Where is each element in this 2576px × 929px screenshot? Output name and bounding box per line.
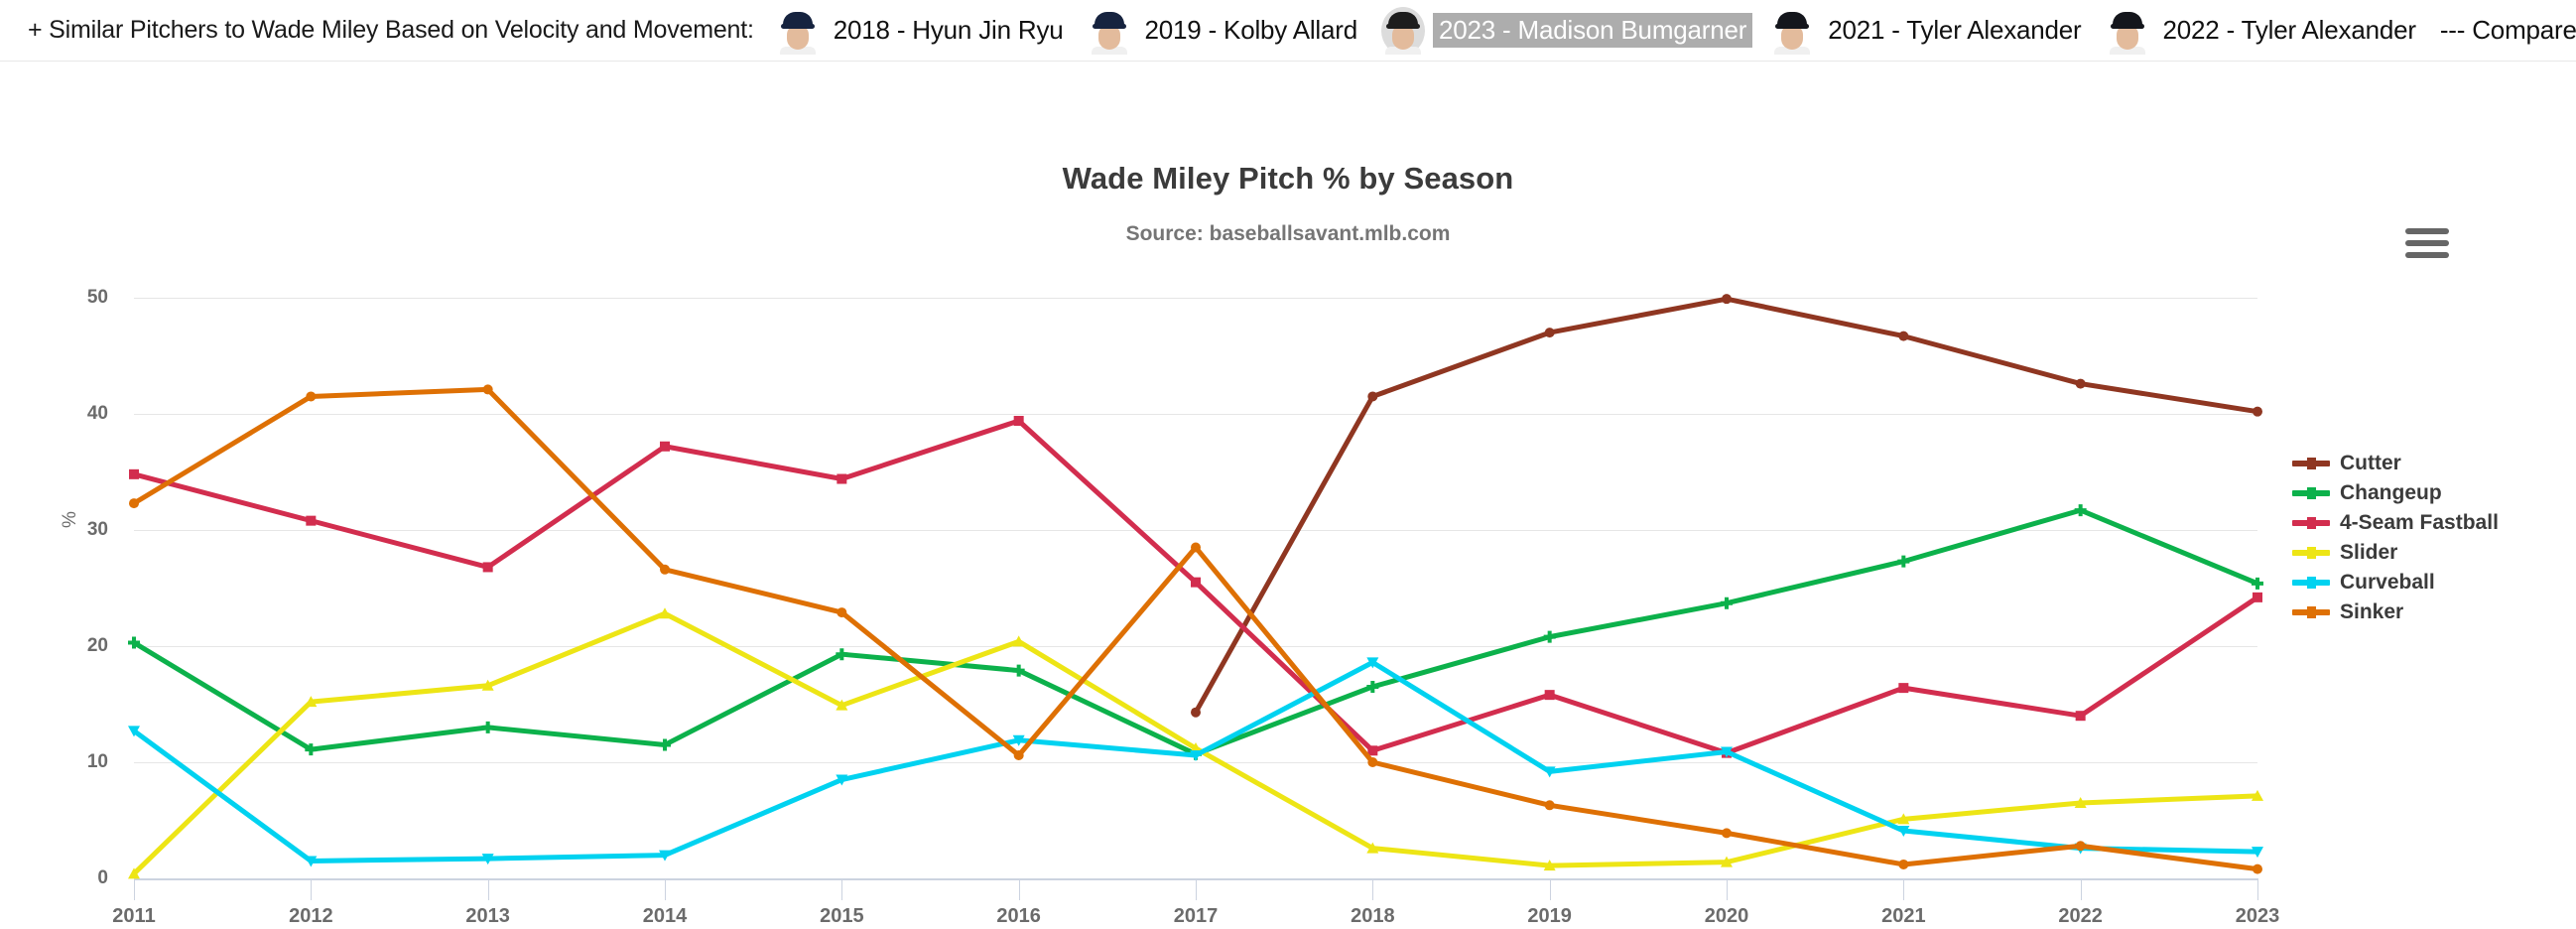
x-axis-tick-label: 2016 <box>960 905 1079 928</box>
pitcher-chip-list: 2018 - Hyun Jin Ryu2019 - Kolby Allard20… <box>776 7 2440 55</box>
menu-bar-2 <box>2405 240 2449 246</box>
data-point[interactable] <box>129 469 139 479</box>
y-axis-tick-label: 10 <box>49 751 108 773</box>
x-axis-tick-mark <box>1727 878 1728 900</box>
legend-color-swatch <box>2292 461 2330 466</box>
pitcher-name: 2021 - Tyler Alexander <box>1822 13 2087 48</box>
pitcher-avatar <box>776 7 820 55</box>
data-point[interactable] <box>482 722 494 733</box>
x-axis-tick-label: 2018 <box>1313 905 1432 928</box>
x-axis-tick-mark <box>1550 878 1551 900</box>
similar-pitchers-label: + Similar Pitchers to Wade Miley Based o… <box>28 16 754 45</box>
series-lines <box>134 298 2257 878</box>
legend-label: Sinker <box>2340 600 2403 624</box>
x-axis-tick-mark <box>2081 878 2082 900</box>
data-point[interactable] <box>2076 711 2086 721</box>
pitcher-chip[interactable]: 2018 - Hyun Jin Ryu <box>776 7 1070 55</box>
x-axis-tick-label: 2015 <box>782 905 901 928</box>
data-point[interactable] <box>1367 391 1377 401</box>
data-point[interactable] <box>1014 416 1024 426</box>
pitcher-chip[interactable]: 2019 - Kolby Allard <box>1088 7 1363 55</box>
x-axis-tick-label: 2013 <box>429 905 548 928</box>
data-point[interactable] <box>1367 745 1377 755</box>
x-axis-tick-label: 2023 <box>2198 905 2317 928</box>
data-point[interactable] <box>1722 828 1732 838</box>
data-point[interactable] <box>837 474 846 484</box>
compare-all-similar-pitchers-link[interactable]: --- Compare All Similar Pitchers <box>2440 15 2576 46</box>
x-axis-tick-mark <box>2257 878 2258 900</box>
chart-legend: CutterChangeup4-Seam FastballSliderCurve… <box>2292 449 2560 627</box>
x-axis-tick-mark <box>134 878 135 900</box>
x-axis-tick-mark <box>488 878 489 900</box>
data-point[interactable] <box>1367 757 1377 767</box>
x-axis-tick-mark <box>841 878 842 900</box>
y-axis-tick-label: 40 <box>49 403 108 425</box>
legend-color-swatch <box>2292 580 2330 586</box>
y-axis-tick-label: 0 <box>49 867 108 889</box>
legend-color-swatch <box>2292 609 2330 615</box>
pitcher-name: 2023 - Madison Bumgarner <box>1433 13 1752 48</box>
menu-bar-3 <box>2405 252 2449 258</box>
hamburger-menu-icon[interactable] <box>2405 228 2449 264</box>
menu-bar-1 <box>2405 228 2449 234</box>
x-axis-tick-label: 2022 <box>2021 905 2140 928</box>
series-4-seam-fastball[interactable] <box>129 416 2262 758</box>
x-axis-tick-label: 2017 <box>1136 905 1255 928</box>
legend-label: Curveball <box>2340 571 2435 595</box>
series-cutter[interactable] <box>1191 294 2262 718</box>
series-sinker[interactable] <box>129 384 2262 873</box>
legend-label: Cutter <box>2340 452 2401 475</box>
data-point[interactable] <box>2253 593 2262 602</box>
x-axis-tick-mark <box>311 878 312 900</box>
data-point[interactable] <box>483 562 493 572</box>
legend-item-cutter[interactable]: Cutter <box>2292 449 2560 478</box>
pitcher-name: 2022 - Tyler Alexander <box>2157 13 2422 48</box>
data-point[interactable] <box>1191 708 1201 718</box>
pitcher-avatar <box>2106 7 2149 55</box>
chart-subtitle: Source: baseballsavant.mlb.com <box>0 222 2576 246</box>
data-point[interactable] <box>1191 543 1201 553</box>
legend-color-swatch <box>2292 490 2330 496</box>
pitcher-avatar <box>1381 7 1425 55</box>
x-axis-tick-label: 2014 <box>605 905 724 928</box>
data-point[interactable] <box>837 607 846 617</box>
pitcher-avatar <box>1088 7 1131 55</box>
data-point[interactable] <box>1898 860 1908 869</box>
legend-item-sinker[interactable]: Sinker <box>2292 597 2560 627</box>
pitcher-chip[interactable]: 2021 - Tyler Alexander <box>1770 7 2087 55</box>
data-point[interactable] <box>306 391 316 401</box>
data-point[interactable] <box>1545 328 1555 337</box>
pitch-percentage-chart: Wade Miley Pitch % by Season Source: bas… <box>0 62 2576 929</box>
data-point[interactable] <box>1898 332 1908 341</box>
x-axis-tick-label: 2021 <box>1844 905 1963 928</box>
x-axis-tick-mark <box>665 878 666 900</box>
y-axis-tick-label: 20 <box>49 635 108 657</box>
data-point[interactable] <box>1014 750 1024 760</box>
data-point[interactable] <box>2253 864 2262 874</box>
data-point[interactable] <box>1898 683 1908 693</box>
data-point[interactable] <box>306 516 316 526</box>
legend-color-swatch <box>2292 520 2330 526</box>
x-axis-tick-label: 2011 <box>74 905 193 928</box>
data-point[interactable] <box>1722 294 1732 304</box>
legend-item-4-seam-fastball[interactable]: 4-Seam Fastball <box>2292 508 2560 538</box>
data-point[interactable] <box>660 442 670 452</box>
legend-color-swatch <box>2292 550 2330 556</box>
data-point[interactable] <box>1545 690 1555 700</box>
data-point[interactable] <box>1897 556 1909 568</box>
data-point[interactable] <box>129 498 139 508</box>
x-axis-tick-mark <box>1196 878 1197 900</box>
pitcher-name: 2019 - Kolby Allard <box>1139 13 1363 48</box>
series-line <box>1196 299 2257 713</box>
pitcher-chip[interactable]: 2022 - Tyler Alexander <box>2106 7 2422 55</box>
legend-item-curveball[interactable]: Curveball <box>2292 568 2560 597</box>
data-point[interactable] <box>1544 631 1556 643</box>
data-point[interactable] <box>1191 578 1201 588</box>
series-line <box>134 389 2257 868</box>
x-axis-tick-label: 2020 <box>1667 905 1786 928</box>
pitcher-avatar <box>1770 7 1814 55</box>
x-axis-tick-label: 2012 <box>251 905 370 928</box>
chart-title: Wade Miley Pitch % by Season <box>0 161 2576 197</box>
x-axis-tick-mark <box>1019 878 1020 900</box>
y-axis-tick-label: 30 <box>49 519 108 541</box>
legend-label: 4-Seam Fastball <box>2340 511 2499 535</box>
data-point[interactable] <box>2076 379 2086 389</box>
data-point[interactable] <box>660 565 670 575</box>
data-point[interactable] <box>483 384 493 394</box>
legend-item-slider[interactable]: Slider <box>2292 538 2560 568</box>
legend-label: Slider <box>2340 541 2397 565</box>
data-point[interactable] <box>2253 407 2262 417</box>
x-axis-tick-mark <box>1903 878 1904 900</box>
series-slider[interactable] <box>128 607 2263 878</box>
x-axis-tick-mark <box>1372 878 1373 900</box>
x-axis-tick-label: 2019 <box>1490 905 1610 928</box>
pitcher-chip[interactable]: 2023 - Madison Bumgarner <box>1381 7 1752 55</box>
similar-pitchers-bar: + Similar Pitchers to Wade Miley Based o… <box>0 0 2576 62</box>
plot-area: 01020304050 2011201220132014201520162017… <box>134 298 2257 878</box>
data-point[interactable] <box>2076 841 2086 851</box>
legend-label: Changeup <box>2340 481 2442 505</box>
data-point[interactable] <box>1721 597 1733 609</box>
y-axis-tick-label: 50 <box>49 287 108 309</box>
legend-item-changeup[interactable]: Changeup <box>2292 478 2560 508</box>
pitcher-name: 2018 - Hyun Jin Ryu <box>828 13 1070 48</box>
data-point[interactable] <box>1545 800 1555 810</box>
